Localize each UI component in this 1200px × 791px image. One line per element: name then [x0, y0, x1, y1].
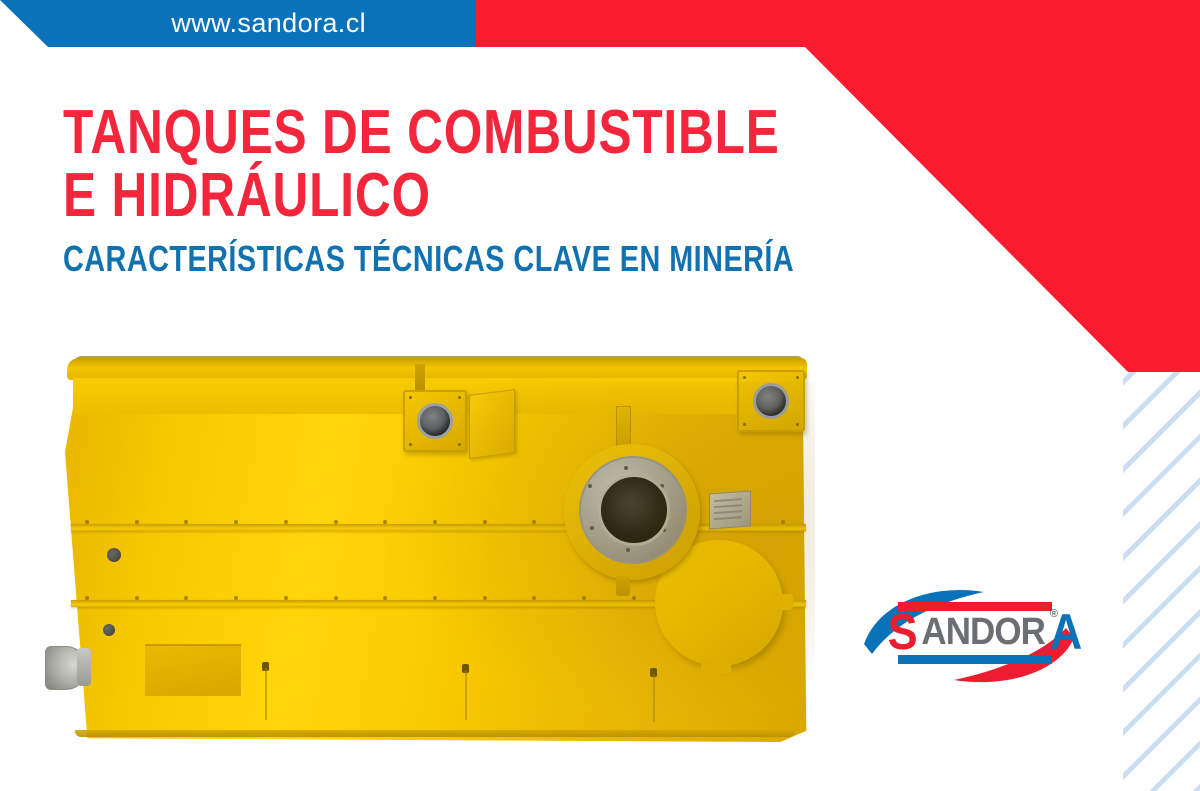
website-url-label: www.sandora.cl [171, 8, 366, 39]
diagonal-stripes-decoration [1123, 372, 1200, 791]
logo-bar-blue [898, 655, 1052, 664]
side-outlet-cap [77, 648, 91, 686]
logo-letter-s: S [888, 607, 917, 657]
access-flap [469, 389, 515, 459]
promo-banner: www.sandora.cl TANQUES DE COMBUSTIBLE E … [0, 0, 1200, 791]
lower-recess-panel [145, 644, 241, 696]
logo-letters-andor: ANDOR [922, 613, 1046, 651]
port-hole-right [753, 383, 789, 419]
port-plate-left [403, 390, 467, 452]
title-line-2: E HIDRÁULICO [63, 167, 671, 226]
drip-mark-2 [465, 670, 467, 720]
filler-neck [564, 444, 700, 580]
nameplate [709, 491, 751, 530]
tank-top-lip [67, 358, 807, 380]
tank-bottom-edge [75, 730, 795, 737]
side-boss-upper [107, 548, 121, 562]
website-url-bar: www.sandora.cl [0, 0, 476, 47]
side-boss-lower [103, 624, 115, 636]
logo-wordmark: S ANDOR A ® [886, 602, 1052, 664]
filler-neck-latch [616, 576, 630, 596]
drip-mark-3 [653, 674, 655, 722]
sandora-logo[interactable]: S ANDOR A ® [858, 578, 1080, 690]
drip-mark-1 [265, 668, 267, 720]
registered-trademark-icon: ® [1050, 608, 1058, 620]
product-photo [55, 352, 825, 747]
port-hole-left [417, 403, 453, 439]
subtitle: CARACTERÍSTICAS TÉCNICAS CLAVE EN MINERÍ… [63, 240, 671, 278]
title-line-1: TANQUES DE COMBUSTIBLE [63, 104, 671, 163]
port-plate-right [737, 370, 805, 432]
headline-block: TANQUES DE COMBUSTIBLE E HIDRÁULICO CARA… [63, 104, 823, 278]
small-pipe [415, 364, 425, 392]
